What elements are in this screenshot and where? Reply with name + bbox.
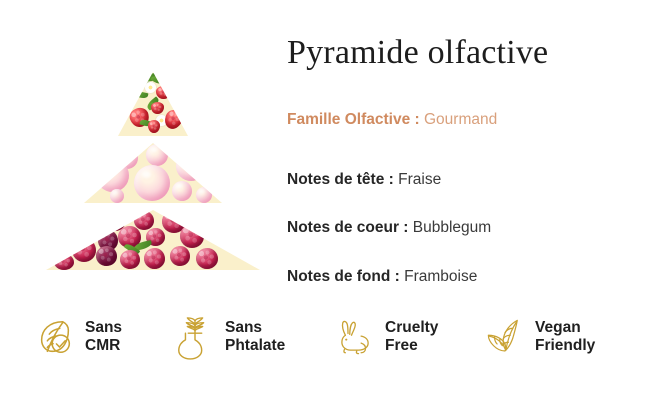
bubblegum-illustration [84,143,222,203]
pyramid-tier-base-framboise [46,210,260,270]
notes-de-tete-label: Notes de tête : [287,171,394,188]
famille-olfactive-value: Gourmand [424,111,497,128]
notes-de-fond-label: Notes de fond : [287,268,400,285]
pyramid-tier-top-fraise [118,72,188,136]
leaf-check-icon [34,314,76,360]
badge-cruelty-free-label: Cruelty Free [385,319,438,355]
info-row-notes-de-tete: Notes de tête : Fraise [287,172,441,188]
certification-badges: Sans CMR Sans Phtalate [34,306,634,368]
leaves-icon [484,314,526,360]
badge-sans-phtalate-label: Sans Phtalate [225,319,285,355]
fragrance-info-panel: Pyramide olfactive Famille Olfactive : G… [287,0,658,292]
olfactive-pyramid-panel [0,0,278,292]
info-row-notes-de-fond: Notes de fond : Framboise [287,269,477,285]
notes-de-tete-value: Fraise [398,171,441,188]
info-row-notes-de-coeur: Notes de coeur : Bubblegum [287,220,491,236]
badge-sans-cmr: Sans CMR [34,308,174,366]
info-row-famille-olfactive: Famille Olfactive : Gourmand [287,112,497,128]
rabbit-icon [334,314,376,360]
notes-de-coeur-value: Bubblegum [413,219,491,236]
olfactive-pyramid-graphic [46,72,260,270]
pyramid-tier-middle-bubblegum [84,143,222,203]
badge-sans-phtalate: Sans Phtalate [174,308,334,366]
badge-cruelty-free: Cruelty Free [334,308,484,366]
notes-de-coeur-label: Notes de coeur : [287,219,408,236]
badge-sans-cmr-label: Sans CMR [85,319,122,355]
raspberry-illustration [46,210,260,270]
flask-plant-icon [174,314,216,360]
famille-olfactive-label: Famille Olfactive : [287,111,420,128]
badge-vegan-friendly: Vegan Friendly [484,308,634,366]
notes-de-fond-value: Framboise [404,268,477,285]
page-title: Pyramide olfactive [287,34,548,72]
badge-vegan-friendly-label: Vegan Friendly [535,319,595,355]
strawberry-illustration [118,72,188,136]
